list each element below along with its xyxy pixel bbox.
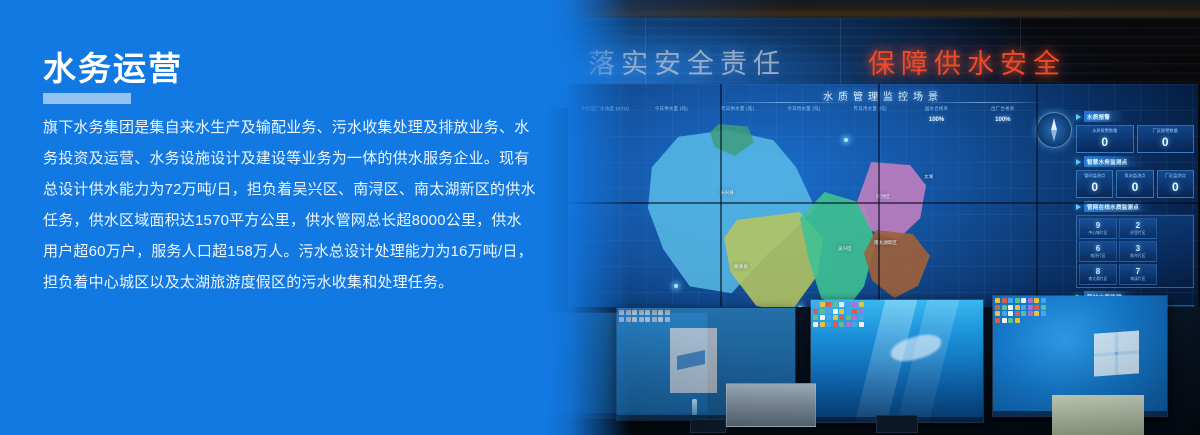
water-bottle	[692, 399, 697, 415]
region-map[interactable]: 长兴县 德清县 吴兴区 南浔区 南太湖新区 太湖	[648, 124, 948, 314]
map-label-taihu: 太湖	[924, 174, 933, 180]
kpi-label: 昨日供水量 (吨)	[707, 106, 769, 112]
title-rule-right	[918, 102, 1048, 103]
kpi-label: 中控出厂水浊度 (NTU)	[574, 106, 636, 112]
description-line: 任务，供水区域面积达1570平方公里，供水管网总长超8000公里，供水	[43, 205, 548, 236]
stat-value: 0	[1138, 135, 1194, 149]
grid-value: 2	[1120, 221, 1156, 230]
description-text: 旗下水务集团是集自来水生产及输配业务、污水收集处理及排放业务、水 务投资及运营、…	[43, 112, 548, 298]
pipe-monitor-grid: 9 中心城片区 2 织里片区 6 南浔片区 3 练市片区	[1076, 215, 1194, 288]
desktop-icon-grid	[813, 302, 865, 417]
kpi-value: 100%	[972, 117, 1034, 123]
kpi-label: 今日供水量 (吨)	[640, 106, 702, 112]
grid-label: 南浔片区	[1080, 254, 1116, 259]
stat-card[interactable]: 水质报警数量 0	[1076, 125, 1134, 153]
description-line: 用户超60万户，服务人口超158万人。污水总设计处理能力为16万吨/日，	[43, 236, 548, 267]
stat-value: 0	[1077, 180, 1112, 194]
grid-label: 南太湖片区	[1080, 277, 1116, 282]
wall-bezel-seam	[568, 202, 1198, 204]
stat-value: 0	[1117, 180, 1152, 194]
stat-title: 水质报警数量	[1077, 128, 1133, 134]
kpi-value: 100%	[905, 117, 967, 123]
grid-label: 中心城片区	[1080, 231, 1116, 236]
desktop-icon-grid	[619, 310, 672, 415]
grid-label: 练市片区	[1120, 254, 1156, 259]
left-text-panel: 水务运营 旗下水务集团是集自来水生产及输配业务、污水收集处理及排放业务、水 务投…	[0, 0, 560, 435]
map-label-deqing: 德清县	[734, 264, 748, 270]
grid-cell[interactable]: 7 埭溪片区	[1119, 264, 1157, 285]
stat-card[interactable]: 管网监测点 0	[1076, 170, 1113, 198]
monitor-card-row: 管网监测点 0 泵站监测点 0 厂区监测点 0	[1076, 170, 1194, 198]
stat-card[interactable]: 厂区报警数量 0	[1137, 125, 1195, 153]
grid-value: 6	[1080, 244, 1116, 253]
title-underline	[43, 93, 131, 104]
stat-title: 泵站监测点	[1117, 173, 1152, 179]
grid-value: 9	[1080, 221, 1116, 230]
stat-title: 厂区报警数量	[1138, 128, 1194, 134]
wall-slogan-right: 保障供水安全	[868, 42, 1066, 81]
monitor-stand	[690, 419, 726, 433]
grid-cell[interactable]: 3 练市片区	[1119, 241, 1157, 262]
map-label-wuxing: 吴兴区	[838, 246, 852, 252]
panel-header-water-alarm[interactable]: 水质报警	[1076, 111, 1194, 122]
dashboard-side-panels: 水质报警 水质报警数量 0 厂区报警数量 0 智慧水务监测点	[1076, 108, 1194, 312]
grid-cell[interactable]: 9 中心城片区	[1079, 218, 1117, 239]
compass-icon	[1036, 112, 1072, 148]
description-line: 担负着中心城区以及太湖旅游度假区的污水收集和处理任务。	[43, 267, 548, 298]
control-room-photo: 落实安全责任 保障供水安全 水质管理监控场景 中控出厂水浊度 (NTU) 今日供…	[540, 0, 1200, 435]
stat-title: 管网监测点	[1077, 173, 1112, 179]
kpi-label: 出厂合格率	[972, 106, 1034, 112]
video-wall-dashboard[interactable]: 水质管理监控场景 中控出厂水浊度 (NTU) 今日供水量 (吨) 昨日供水量 (…	[568, 84, 1198, 316]
panel-header-smart-water[interactable]: 智慧水务监测点	[1076, 156, 1194, 167]
grid-value: 8	[1080, 267, 1116, 276]
kpi-label: 今日用水量 (吨)	[773, 106, 835, 112]
title-rule-left	[718, 102, 848, 103]
grid-value: 3	[1120, 244, 1156, 253]
description-line: 总设计供水能力为72万吨/日，担负着吴兴区、南浔区、南太湖新区的供水	[43, 174, 548, 205]
wall-bezel-seam	[720, 84, 722, 316]
banner-root: 落实安全责任 保障供水安全 水质管理监控场景 中控出厂水浊度 (NTU) 今日供…	[0, 0, 1200, 435]
laptop[interactable]	[726, 383, 816, 427]
panel-title: 智慧水务监测点	[1084, 156, 1142, 167]
ceiling-band	[540, 0, 1200, 20]
document-window	[670, 328, 716, 393]
stat-value: 0	[1158, 180, 1193, 194]
grid-cell[interactable]: 6 南浔片区	[1079, 241, 1117, 262]
wall-bezel-seam	[1036, 84, 1038, 316]
grid-value: 7	[1120, 267, 1156, 276]
monitor-stand	[876, 415, 918, 433]
map-marker[interactable]	[674, 284, 678, 288]
chevron-right-icon	[1076, 204, 1081, 210]
desktop-icon-grid	[995, 298, 1047, 411]
dashboard-title: 水质管理监控场景	[568, 88, 1198, 103]
stat-card[interactable]: 厂区监测点 0	[1157, 170, 1194, 198]
stat-card[interactable]: 泵站监测点 0	[1116, 170, 1153, 198]
grid-cell[interactable]: 8 南太湖片区	[1079, 264, 1117, 285]
wall-bezel-seam	[878, 84, 880, 316]
desk-monitor[interactable]	[810, 299, 984, 423]
map-label-changxing: 长兴县	[720, 190, 734, 196]
description-line: 旗下水务集团是集自来水生产及输配业务、污水收集处理及排放业务、水	[43, 112, 548, 143]
kpi-item[interactable]: 出厂合格率 100%	[972, 106, 1034, 132]
operator-desk-row	[540, 307, 1200, 435]
panel-title: 水质报警	[1084, 111, 1124, 122]
kpi-label: 昨日用水量 (吨)	[839, 106, 901, 112]
kpi-item[interactable]: 中控出厂水浊度 (NTU)	[574, 106, 636, 132]
wall-slogan-left: 落实安全责任	[588, 42, 786, 81]
chevron-right-icon	[1076, 159, 1081, 165]
grid-cell[interactable]: 2 织里片区	[1119, 218, 1157, 239]
stat-value: 0	[1077, 135, 1133, 149]
description-line: 务投资及运营、水务设施设计及建设等业务为一体的供水服务企业。现有	[43, 143, 548, 174]
kpi-label: 国水合格率	[905, 106, 967, 112]
grid-label: 织里片区	[1120, 231, 1156, 236]
chevron-right-icon	[1076, 114, 1081, 120]
grid-label: 埭溪片区	[1120, 277, 1156, 282]
stat-title: 厂区监测点	[1158, 173, 1193, 179]
alarm-card-row: 水质报警数量 0 厂区报警数量 0	[1076, 125, 1194, 153]
page-title: 水务运营	[43, 52, 183, 85]
paper-stack	[1052, 395, 1144, 435]
map-marker[interactable]	[844, 138, 848, 142]
